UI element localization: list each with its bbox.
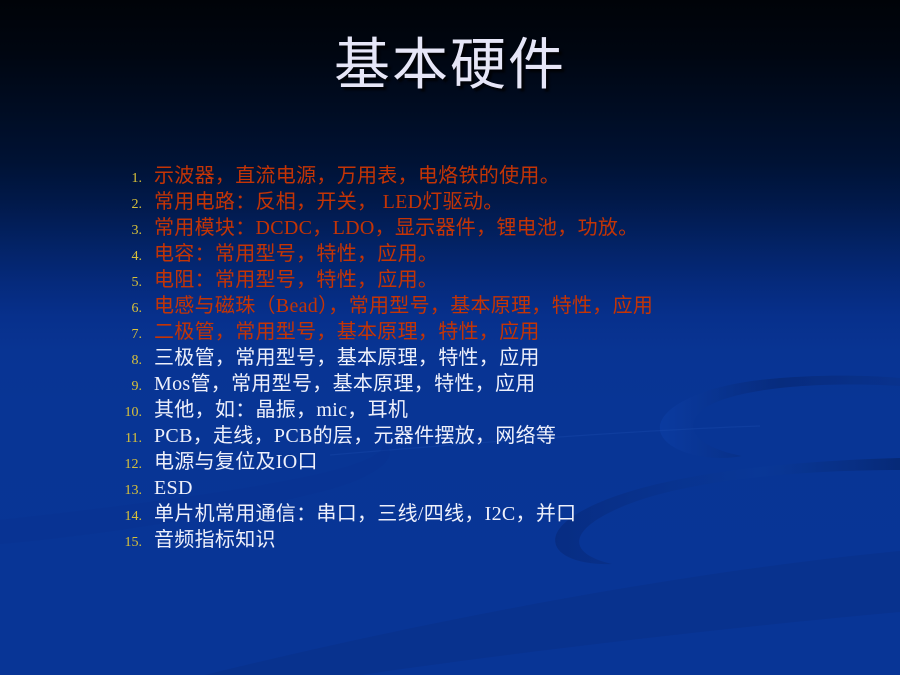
- list-item: 4. 电容：常用型号，特性，应用。: [108, 241, 868, 267]
- list-item: 1. 示波器，直流电源，万用表，电烙铁的使用。: [108, 163, 868, 189]
- list-item-number: 3.: [108, 218, 154, 244]
- list-item-number: 13.: [108, 478, 154, 504]
- list-item-number: 14.: [108, 504, 154, 530]
- list-item: 10. 其他，如：晶振，mic，耳机: [108, 397, 868, 423]
- list-item-number: 11.: [108, 426, 154, 452]
- list-item-text: ESD: [154, 475, 193, 501]
- list-item-number: 5.: [108, 270, 154, 296]
- list-item-text: 单片机常用通信：串口，三线/四线，I2C，并口: [154, 501, 576, 527]
- list-item: 5. 电阻：常用型号，特性，应用。: [108, 267, 868, 293]
- list-item-text: PCB，走线，PCB的层，元器件摆放，网络等: [154, 423, 556, 449]
- list-item: 11. PCB，走线，PCB的层，元器件摆放，网络等: [108, 423, 868, 449]
- list-item-text: 常用模块：DCDC，LDO，显示器件，锂电池，功放。: [154, 215, 638, 241]
- list-item: 6. 电感与磁珠（Bead），常用型号，基本原理，特性，应用: [108, 293, 868, 319]
- list-item-text: 其他，如：晶振，mic，耳机: [154, 397, 408, 423]
- list-item-text: 音频指标知识: [154, 527, 276, 553]
- list-item-text: 电容：常用型号，特性，应用。: [154, 241, 438, 267]
- list-item: 8. 三极管，常用型号，基本原理，特性，应用: [108, 345, 868, 371]
- list-item-text: 二极管，常用型号，基本原理，特性，应用: [154, 319, 540, 345]
- list-item-number: 10.: [108, 400, 154, 426]
- list-item-number: 6.: [108, 296, 154, 322]
- page-title: 基本硬件: [0, 36, 900, 98]
- list-item-text: 电感与磁珠（Bead），常用型号，基本原理，特性，应用: [154, 293, 653, 319]
- bullet-list: 1. 示波器，直流电源，万用表，电烙铁的使用。 2. 常用电路：反相，开关， L…: [108, 163, 868, 553]
- list-item-text: 电源与复位及IO口: [154, 449, 318, 475]
- list-item: 7. 二极管，常用型号，基本原理，特性，应用: [108, 319, 868, 345]
- list-item-number: 8.: [108, 348, 154, 374]
- list-item: 3. 常用模块：DCDC，LDO，显示器件，锂电池，功放。: [108, 215, 868, 241]
- presentation-slide: 基本硬件 1. 示波器，直流电源，万用表，电烙铁的使用。 2. 常用电路：反相，…: [0, 0, 900, 675]
- list-item: 13. ESD: [108, 475, 868, 501]
- list-item-text: 三极管，常用型号，基本原理，特性，应用: [154, 345, 540, 371]
- list-item-text: 常用电路：反相，开关， LED灯驱动。: [154, 189, 504, 215]
- list-item: 9. Mos管，常用型号，基本原理，特性，应用: [108, 371, 868, 397]
- list-item-number: 15.: [108, 530, 154, 556]
- list-item-text: Mos管，常用型号，基本原理，特性，应用: [154, 371, 536, 397]
- list-item-text: 电阻：常用型号，特性，应用。: [154, 267, 438, 293]
- list-item: 15. 音频指标知识: [108, 527, 868, 553]
- list-item-number: 12.: [108, 452, 154, 478]
- list-item-number: 9.: [108, 374, 154, 400]
- swoosh-band: [205, 551, 900, 675]
- list-item: 12. 电源与复位及IO口: [108, 449, 868, 475]
- list-item-number: 2.: [108, 192, 154, 218]
- list-item-number: 1.: [108, 166, 154, 192]
- list-item-text: 示波器，直流电源，万用表，电烙铁的使用。: [154, 163, 560, 189]
- list-item-number: 7.: [108, 322, 154, 348]
- list-item-number: 4.: [108, 244, 154, 270]
- list-item: 2. 常用电路：反相，开关， LED灯驱动。: [108, 189, 868, 215]
- list-item: 14. 单片机常用通信：串口，三线/四线，I2C，并口: [108, 501, 868, 527]
